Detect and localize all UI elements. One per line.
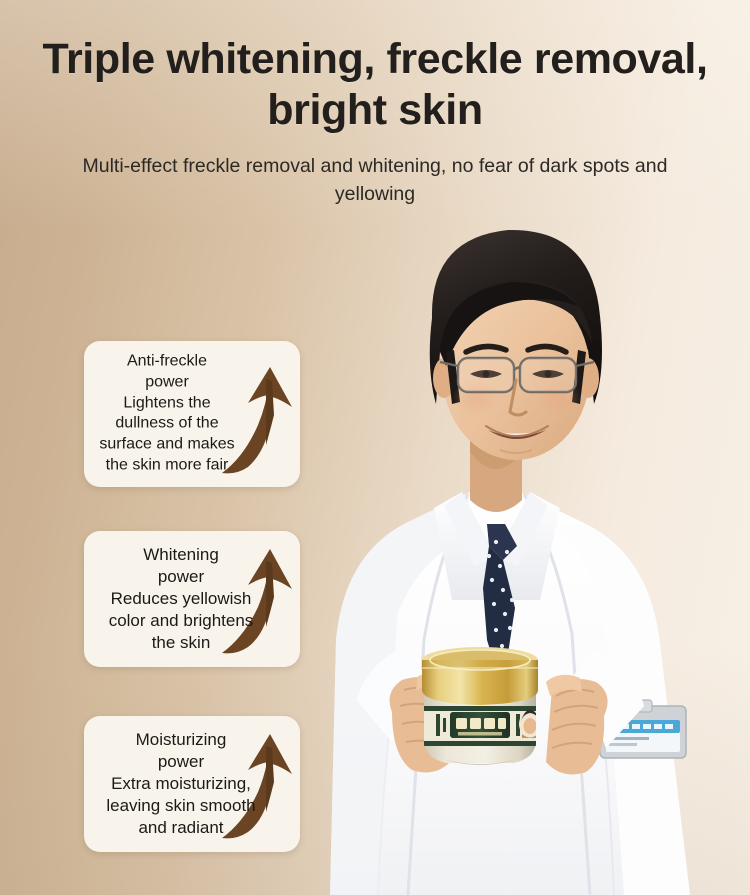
feature-card-anti-freckle[interactable]: Anti-freckle power Lightens the dullness…: [84, 341, 300, 487]
feature-card-text: Anti-freckle power Lightens the dullness…: [84, 352, 300, 477]
feature-card-body: Moisturizing power Extra moisturizing, l…: [84, 716, 300, 852]
page-title: Triple whitening, freckle removal, brigh…: [0, 34, 750, 136]
page-subtitle: Multi-effect freckle removal and whiteni…: [0, 153, 750, 208]
feature-card-moisturizing[interactable]: Moisturizing power Extra moisturizing, l…: [84, 716, 300, 852]
product-banner: Triple whitening, freckle removal, brigh…: [0, 0, 750, 895]
header: Triple whitening, freckle removal, brigh…: [0, 34, 750, 209]
feature-card-text: Moisturizing power Extra moisturizing, l…: [84, 729, 300, 839]
cream-jar-group: [420, 647, 541, 765]
feature-card-whitening[interactable]: Whitening power Reduces yellowish color …: [84, 531, 300, 667]
feature-card-body: Whitening power Reduces yellowish color …: [84, 531, 300, 667]
feature-card-text: Whitening power Reduces yellowish color …: [84, 544, 300, 654]
feature-card-body: Anti-freckle power Lightens the dullness…: [84, 341, 300, 487]
